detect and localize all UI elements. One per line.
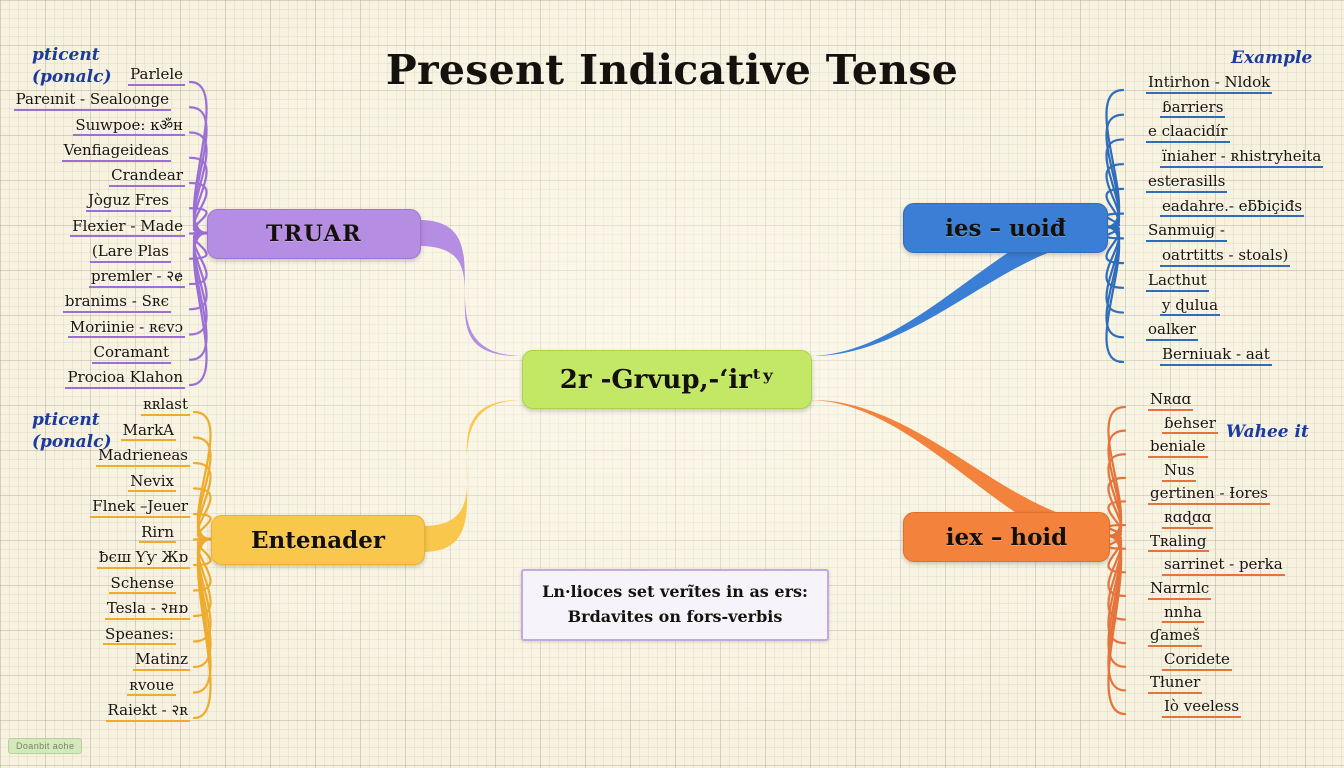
- leaf-label-text: oatrtitts - stoals): [1160, 248, 1290, 267]
- leaf-label-text: branims - Ѕʀє: [63, 294, 171, 313]
- leaf-label: Nevix: [128, 474, 176, 495]
- leaf-label: Tłuner: [1148, 675, 1202, 696]
- branch-node-er[interactable]: Entenader: [211, 515, 425, 565]
- leaf-label-text: Flnek –Jeuer: [90, 499, 190, 518]
- central-node[interactable]: 2r -Grvup,-‘irᵗʸ: [522, 350, 812, 409]
- leaf-label: Venfiageideas: [62, 143, 171, 164]
- leaf-label: Lacthut: [1146, 273, 1209, 294]
- leaf-label-text: Venfiageideas: [62, 143, 171, 162]
- leaf-label: esterasills: [1146, 174, 1227, 195]
- leaf-label: (Lare Plas: [90, 244, 171, 265]
- status-badge: Doanbit aohe: [8, 738, 82, 754]
- leaf-label: Sanmuig -: [1146, 223, 1227, 244]
- leaf-label: ʀvoue: [127, 678, 176, 699]
- leaf-label-text: eadahre.- eƃƀiçiđs: [1160, 199, 1304, 218]
- leaf-label-text: y ɖulua: [1160, 298, 1220, 317]
- leaf-label-text: ɓarriers: [1160, 100, 1225, 119]
- leaf-label-text: Coridete: [1162, 652, 1232, 671]
- leaf-label: Jòguz Fres: [86, 193, 171, 214]
- note-line-2: Brdavites on fors-verbis: [568, 605, 783, 630]
- leaf-label: branims - Ѕʀє: [63, 294, 171, 315]
- leaf-label: premler - २ɇ: [89, 269, 185, 290]
- leaf-label: ɠameš: [1148, 628, 1202, 649]
- leaf-label: Coridete: [1162, 652, 1232, 673]
- leaf-label-text: Schense: [109, 576, 176, 595]
- leaf-label-text: Iò veeless: [1162, 699, 1241, 718]
- leaf-label: ƀєш Ƴƴ Жɒ: [97, 550, 190, 571]
- leaf-label: Nʀɑɑ: [1148, 392, 1193, 413]
- leaf-label-text: ɓehser: [1162, 416, 1218, 435]
- leaf-label: Madrieneas: [96, 448, 190, 469]
- leaf-label-text: sarrinet - perka: [1162, 557, 1285, 576]
- leaf-label: Iò veeless: [1162, 699, 1241, 720]
- leaf-label: Rirn: [139, 525, 176, 546]
- leaf-label-text: Procioa Klahon: [65, 370, 185, 389]
- branch-node-ir-bot[interactable]: iex – hoid: [903, 512, 1110, 562]
- leaf-label-text: Nus: [1162, 463, 1196, 482]
- leaf-label: Raiekt - २ʀ: [106, 703, 191, 724]
- leaf-label: Nus: [1162, 463, 1196, 484]
- section-label-bottom-right: Wahee it: [1226, 422, 1309, 444]
- leaf-label-text: ƀєш Ƴƴ Жɒ: [97, 550, 190, 569]
- leaf-label-text: oalker: [1146, 322, 1198, 341]
- leaf-label: MarkA: [121, 423, 176, 444]
- leaf-label-text: gertinen - Ɨores: [1148, 486, 1270, 505]
- leaf-label: beniale: [1148, 439, 1208, 460]
- leaf-label: Pareınit - Sealoonge: [14, 92, 171, 113]
- leaf-label-text: Suıwpoe: ĸॐʜ: [73, 118, 185, 137]
- leaf-label: sarrinet - perka: [1162, 557, 1285, 578]
- leaf-label-text: Berniuak - aat: [1160, 347, 1272, 366]
- page-title: Present Indicative Tense: [0, 46, 1344, 94]
- leaf-label: ɓehser: [1162, 416, 1218, 437]
- leaf-label-text: Speanes:: [103, 627, 176, 646]
- leaf-label: nnha: [1162, 605, 1204, 626]
- leaf-label: Coramant: [92, 345, 171, 366]
- leaf-label: Tʀaling: [1148, 534, 1209, 555]
- leaf-label-text: Flexier - Made: [70, 219, 185, 238]
- branch-node-ar[interactable]: TRUAR: [207, 209, 421, 259]
- leaf-label: y ɖulua: [1160, 298, 1220, 319]
- leaf-label-text: premler - २ɇ: [89, 269, 185, 288]
- section-label-top-left: pticent (ponalc): [32, 45, 112, 89]
- leaf-label: Flexier - Made: [70, 219, 185, 240]
- leaf-label-text: MarkA: [121, 423, 176, 442]
- leaf-label: Parlele: [128, 67, 185, 88]
- leaf-label: ʀʀlast: [141, 397, 190, 418]
- leaf-label-text: ɠameš: [1148, 628, 1202, 647]
- leaf-label-text: esterasills: [1146, 174, 1227, 193]
- leaf-label-text: Nevix: [128, 474, 176, 493]
- leaf-label: oalker: [1146, 322, 1198, 343]
- leaf-label: Speanes:: [103, 627, 176, 648]
- leaf-label-text: beniale: [1148, 439, 1208, 458]
- section-label-top-right: Example: [1231, 48, 1312, 70]
- leaf-label: e claacidír: [1146, 124, 1230, 145]
- leaf-label-text: Sanmuig -: [1146, 223, 1227, 242]
- leaf-label: Crandear: [109, 168, 185, 189]
- leaf-label: oatrtitts - stoals): [1160, 248, 1290, 269]
- leaf-label-text: Rirn: [139, 525, 176, 544]
- leaf-label-text: Madrieneas: [96, 448, 190, 467]
- leaf-label: Moriinie - ʀєᴠɔ: [68, 320, 185, 341]
- leaf-label-text: ʀʀlast: [141, 397, 190, 416]
- leaf-label-text: (Lare Plas: [90, 244, 171, 263]
- note-box: Ln·lioces set verĩtes in as ers: Brdavit…: [521, 569, 829, 641]
- leaf-label: Suıwpoe: ĸॐʜ: [73, 118, 185, 139]
- leaf-label-text: Tesla - २ʜɒ: [105, 601, 190, 620]
- note-line-1: Ln·lioces set verĩtes in as ers:: [542, 580, 808, 605]
- leaf-label: ïniaher - ʀhistryheita: [1160, 149, 1323, 170]
- leaf-label: Flnek –Jeuer: [90, 499, 190, 520]
- leaf-label: ʀɑɖɑɑ: [1162, 510, 1213, 531]
- leaf-label-text: e claacidír: [1146, 124, 1230, 143]
- leaf-label-text: Raiekt - २ʀ: [106, 703, 191, 722]
- leaf-label: Schense: [109, 576, 176, 597]
- leaf-label-text: nnha: [1162, 605, 1204, 624]
- leaf-label-text: Matinz: [133, 652, 190, 671]
- leaf-label: Berniuak - aat: [1160, 347, 1272, 368]
- leaf-label: ɓarriers: [1160, 100, 1225, 121]
- leaf-label-text: Moriinie - ʀєᴠɔ: [68, 320, 185, 339]
- leaf-label-text: Coramant: [92, 345, 171, 364]
- branch-node-ir-top[interactable]: ies – uoiđ: [903, 203, 1108, 253]
- leaf-label-text: Jòguz Fres: [86, 193, 171, 212]
- leaf-label-text: Lacthut: [1146, 273, 1209, 292]
- leaf-label: gertinen - Ɨores: [1148, 486, 1270, 507]
- leaf-label-text: Parlele: [128, 67, 185, 86]
- leaf-label-text: Crandear: [109, 168, 185, 187]
- leaf-label-text: Narrnlc: [1148, 581, 1211, 600]
- leaf-label: Tesla - २ʜɒ: [105, 601, 190, 622]
- leaf-label: eadahre.- eƃƀiçiđs: [1160, 199, 1304, 220]
- leaf-label-text: ïniaher - ʀhistryheita: [1160, 149, 1323, 168]
- leaf-label-text: Pareınit - Sealoonge: [14, 92, 171, 111]
- leaf-label-text: ʀvoue: [127, 678, 176, 697]
- trunk-connector-ar: [419, 220, 522, 356]
- leaf-label: Intirhon - Nldok: [1146, 75, 1272, 96]
- leaf-label-text: ʀɑɖɑɑ: [1162, 510, 1213, 529]
- leaf-label: Matinz: [133, 652, 190, 673]
- leaf-label-text: Intirhon - Nldok: [1146, 75, 1272, 94]
- leaf-label: Procioa Klahon: [65, 370, 185, 391]
- leaf-label-text: Tʀaling: [1148, 534, 1209, 553]
- leaf-label: Narrnlc: [1148, 581, 1211, 602]
- leaf-label-text: Nʀɑɑ: [1148, 392, 1193, 411]
- leaf-label-text: Tłuner: [1148, 675, 1202, 694]
- trunk-connector-er: [423, 400, 522, 552]
